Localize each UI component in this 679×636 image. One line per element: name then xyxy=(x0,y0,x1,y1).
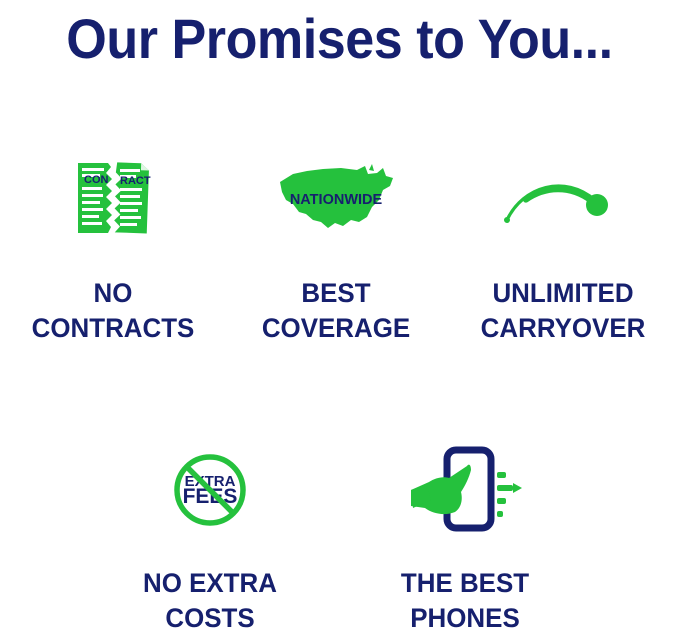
promise-unlimited-carryover: UNLIMITED CARRYOVER xyxy=(450,150,676,346)
promise-label: UNLIMITED CARRYOVER xyxy=(455,276,672,346)
contract-word-right: RACT xyxy=(120,175,151,187)
promise-best-coverage: NATIONWIDE BEST COVERAGE xyxy=(223,150,449,346)
promise-label-line2: CARRYOVER xyxy=(455,311,672,346)
page-title: Our Promises to You... xyxy=(24,8,655,70)
promise-label-line1: BEST xyxy=(301,278,370,308)
no-extra-fees-icon: EXTRA FEES xyxy=(172,452,248,528)
carryover-arc-icon xyxy=(503,170,623,230)
promise-label-line1: NO EXTRA xyxy=(143,568,277,598)
promise-no-extra-costs: EXTRA FEES NO EXTRA COSTS xyxy=(97,440,323,636)
promise-the-best-phones: THE BEST PHONES xyxy=(352,440,578,636)
icon-container: CON RACT xyxy=(0,150,226,250)
promise-label-line2: PHONES xyxy=(357,601,574,636)
map-label: NATIONWIDE xyxy=(290,192,383,208)
promises-graphic: Our Promises to You... xyxy=(0,0,679,624)
promise-label: BEST COVERAGE xyxy=(228,276,445,346)
torn-contract-icon: CON RACT xyxy=(70,157,156,243)
promise-no-contracts: CON RACT NO CONTRACTS xyxy=(0,150,226,346)
promise-label-line1: THE BEST xyxy=(401,568,529,598)
promise-label-line1: UNLIMITED xyxy=(492,278,633,308)
contract-word-left: CON xyxy=(84,174,109,186)
promise-label-line1: NO xyxy=(94,278,133,308)
promise-label-line2: COVERAGE xyxy=(228,311,445,346)
icon-container: NATIONWIDE xyxy=(223,150,449,250)
promise-label: NO CONTRACTS xyxy=(5,276,222,346)
icon-container xyxy=(450,150,676,250)
icon-container xyxy=(352,440,578,540)
icon-container: EXTRA FEES xyxy=(97,440,323,540)
usa-map-icon: NATIONWIDE xyxy=(273,160,399,240)
promise-label: NO EXTRA COSTS xyxy=(102,566,319,636)
promise-label-line2: CONTRACTS xyxy=(5,311,222,346)
hand-tapping-phone-icon xyxy=(405,444,525,536)
promise-label-line2: COSTS xyxy=(102,601,319,636)
promise-label: THE BEST PHONES xyxy=(357,566,574,636)
